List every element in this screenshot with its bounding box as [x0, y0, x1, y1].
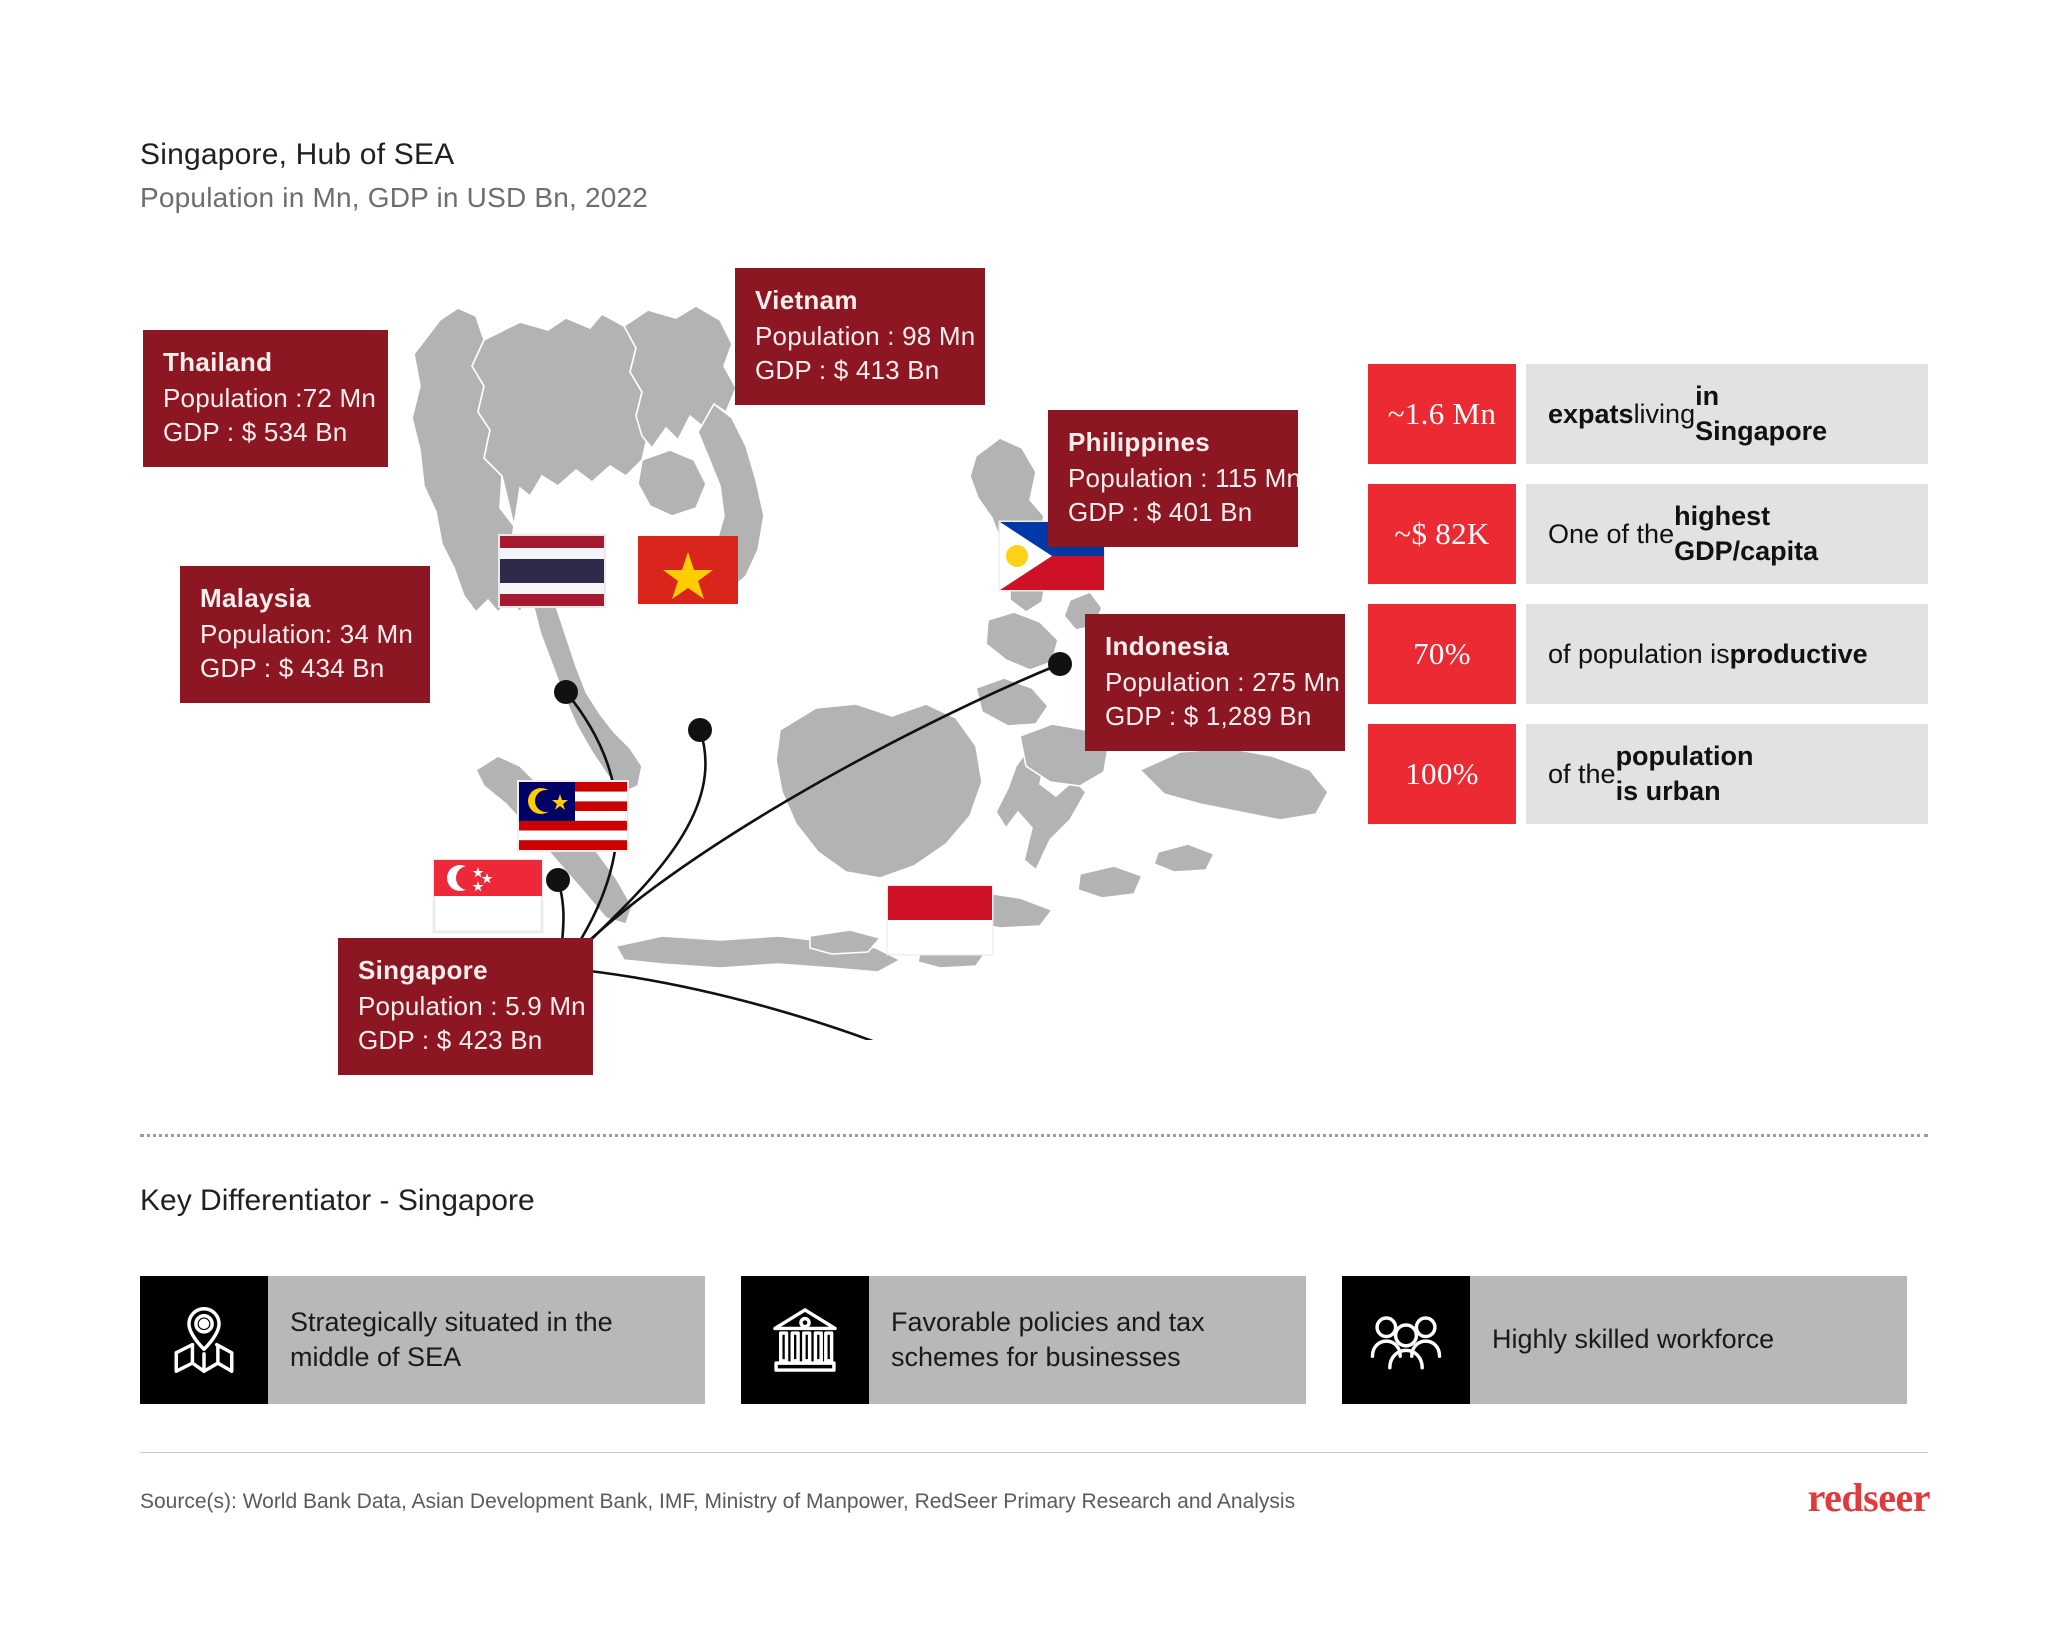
stat-value: 100% — [1368, 724, 1516, 824]
flag-singapore-callout — [432, 858, 544, 939]
callout-country-name: Singapore — [358, 954, 573, 988]
stat-value: 70% — [1368, 604, 1516, 704]
kd-card-workforce: Highly skilled workforce — [1342, 1276, 1907, 1404]
stat-value: ~1.6 Mn — [1368, 364, 1516, 464]
stat-row-urban: 100% of the populationis urban — [1368, 724, 1928, 824]
callout-indonesia: Indonesia Population : 275 Mn GDP : $ 1,… — [1085, 614, 1345, 751]
stat-row-expats: ~1.6 Mn expats living inSingapore — [1368, 364, 1928, 464]
footer-rule — [140, 1452, 1928, 1453]
stat-row-productive: 70% of population isproductive — [1368, 604, 1928, 704]
callout-singapore: Singapore Population : 5.9 Mn GDP : $ 42… — [338, 938, 593, 1075]
callout-country-name: Malaysia — [200, 582, 410, 616]
key-differentiator-title: Key Differentiator - Singapore — [140, 1184, 535, 1218]
singapore-stats-panel: ~1.6 Mn expats living inSingapore ~$ 82K… — [1368, 364, 1928, 844]
stat-label: of population isproductive — [1526, 604, 1928, 704]
callout-population: Population : 5.9 Mn — [358, 990, 573, 1024]
callout-country-name: Indonesia — [1105, 630, 1325, 664]
callout-gdp: GDP : $ 434 Bn — [200, 652, 410, 686]
key-differentiator-cards: Strategically situated in the middle of … — [140, 1276, 1930, 1404]
people-icon — [1342, 1276, 1470, 1404]
callout-vietnam: Vietnam Population : 98 Mn GDP : $ 413 B… — [735, 268, 985, 405]
callout-population: Population : 98 Mn — [755, 320, 965, 354]
redseer-logo: redseer — [1808, 1474, 1930, 1521]
callout-gdp: GDP : $ 534 Bn — [163, 416, 368, 450]
kd-card-policies: Favorable policies and tax schemes for b… — [741, 1276, 1306, 1404]
dot-philippines — [1048, 652, 1072, 676]
callout-gdp: GDP : $ 413 Bn — [755, 354, 965, 388]
line-to-indonesia — [562, 968, 920, 1040]
section-divider — [140, 1134, 1928, 1137]
callout-gdp: GDP : $ 423 Bn — [358, 1024, 573, 1058]
dot-malaysia — [546, 868, 570, 892]
stat-value: ~$ 82K — [1368, 484, 1516, 584]
flag-indonesia — [888, 886, 992, 954]
dot-thailand — [554, 680, 578, 704]
kd-card-label: Strategically situated in the middle of … — [268, 1276, 705, 1404]
callout-philippines: Philippines Population : 115 Mn GDP : $ … — [1048, 410, 1298, 547]
stat-row-gdp-capita: ~$ 82K One of the highestGDP/capita — [1368, 484, 1928, 584]
callout-population: Population: 34 Mn — [200, 618, 410, 652]
kd-card-label: Favorable policies and tax schemes for b… — [869, 1276, 1306, 1404]
infographic-page: Singapore, Hub of SEA Population in Mn, … — [0, 0, 2048, 1646]
map-pin-icon — [140, 1276, 268, 1404]
kd-card-label: Highly skilled workforce — [1470, 1276, 1907, 1404]
callout-population: Population : 115 Mn — [1068, 462, 1278, 496]
flag-thailand — [500, 536, 604, 606]
page-title: Singapore, Hub of SEA — [140, 138, 454, 172]
stat-label: expats living inSingapore — [1526, 364, 1928, 464]
callout-population: Population :72 Mn — [163, 382, 368, 416]
stat-label: of the populationis urban — [1526, 724, 1928, 824]
bank-icon — [741, 1276, 869, 1404]
kd-card-location: Strategically situated in the middle of … — [140, 1276, 705, 1404]
flag-malaysia — [519, 782, 627, 850]
dot-vietnam — [688, 718, 712, 742]
stat-label: One of the highestGDP/capita — [1526, 484, 1928, 584]
callout-country-name: Thailand — [163, 346, 368, 380]
flag-vietnam — [638, 536, 738, 604]
callout-thailand: Thailand Population :72 Mn GDP : $ 534 B… — [143, 330, 388, 467]
callout-population: Population : 275 Mn — [1105, 666, 1325, 700]
callout-gdp: GDP : $ 1,289 Bn — [1105, 700, 1325, 734]
callout-country-name: Philippines — [1068, 426, 1278, 460]
source-text: Source(s): World Bank Data, Asian Develo… — [140, 1490, 1295, 1514]
callout-malaysia: Malaysia Population: 34 Mn GDP : $ 434 B… — [180, 566, 430, 703]
callout-country-name: Vietnam — [755, 284, 965, 318]
callout-gdp: GDP : $ 401 Bn — [1068, 496, 1278, 530]
page-subtitle: Population in Mn, GDP in USD Bn, 2022 — [140, 182, 648, 214]
